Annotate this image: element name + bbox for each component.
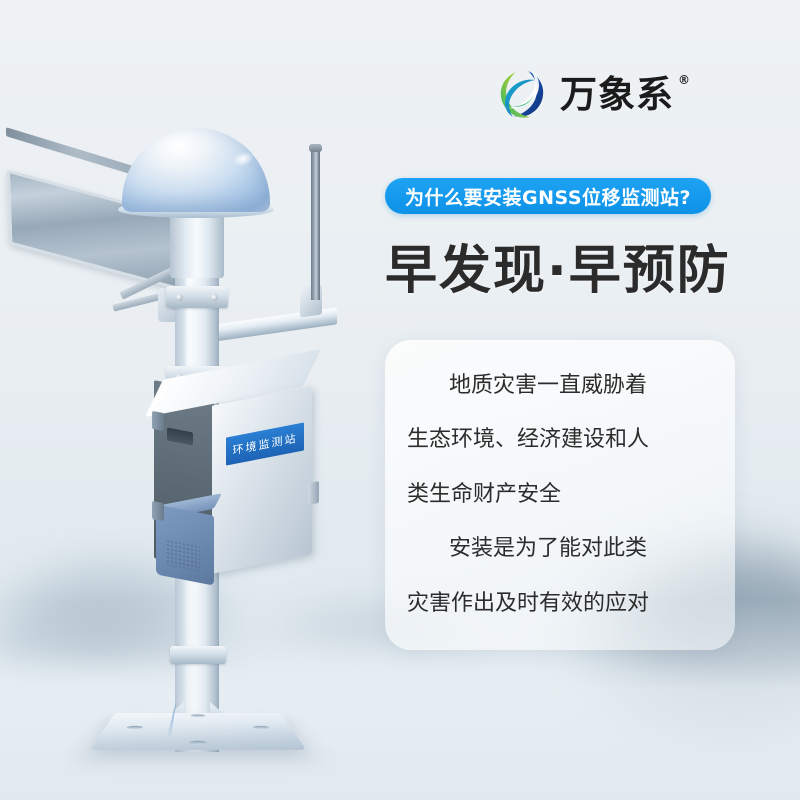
antenna-neck: [170, 208, 224, 278]
mast-clamp-upper: [166, 286, 228, 308]
base-plate-bolt-hole: [126, 726, 143, 729]
base-plate-bolt-hole: [191, 714, 206, 717]
clamp-bolt: [211, 294, 218, 301]
enclosure-hinge-lower: [152, 501, 164, 521]
body-text-panel: 地质灾害一直威胁着 生态环境、经济建设和人 类生命财产安全 安装是为了能对此类 …: [385, 340, 735, 650]
brand-logo: 万象系 ®: [494, 66, 674, 122]
headline: 早发现·早预防: [385, 228, 731, 303]
body-line-1: 地质灾害一直威胁着: [407, 374, 713, 398]
mast-clamp-bottom: [170, 646, 226, 664]
registered-trademark-icon: ®: [678, 74, 691, 86]
base-plate-bolt-hole: [189, 741, 207, 745]
body-line-2: 生态环境、经济建设和人: [407, 428, 713, 452]
antenna-rod-cap: [309, 144, 322, 152]
enclosure-hinge-upper: [152, 411, 164, 431]
gnss-antenna-dome: [122, 128, 270, 212]
clamp-bolt: [176, 294, 183, 301]
question-pill: 为什么要安装GNSS位移监测站?: [385, 178, 711, 214]
product-illustration: 环境监测站: [0, 90, 380, 770]
body-line-3: 类生命财产安全: [407, 483, 713, 507]
poster-canvas: 环境监测站: [0, 0, 800, 800]
question-pill-label: 为什么要安装GNSS位移监测站?: [405, 183, 691, 210]
brand-name: 万象系 ®: [560, 76, 674, 113]
base-plate: [90, 713, 307, 750]
enclosure-front-panel: [212, 386, 312, 573]
brand-name-text: 万象系: [560, 73, 674, 116]
enclosure-latch: [308, 481, 319, 505]
swirl-globe-logo-icon: [494, 66, 550, 122]
body-line-4: 安装是为了能对此类: [407, 537, 713, 561]
antenna-rod: [311, 148, 320, 300]
base-plate-bolt-hole: [253, 726, 270, 729]
body-text-lines: 地质灾害一直威胁着 生态环境、经济建设和人 类生命财产安全 安装是为了能对此类 …: [385, 340, 735, 650]
body-line-5: 灾害作出及时有效的应对: [407, 592, 713, 616]
